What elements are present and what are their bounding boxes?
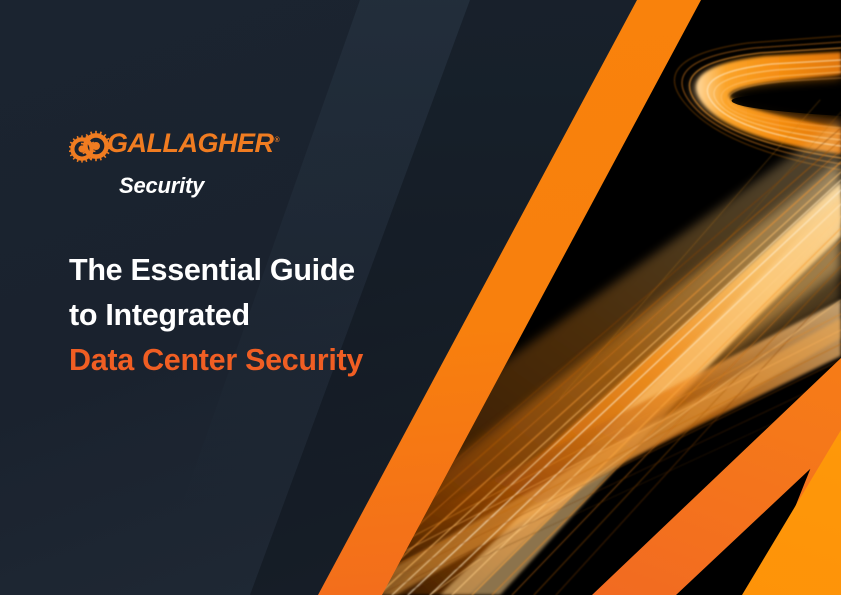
cover-content: GALLAGHER® Security The Essential Guide … <box>69 0 489 595</box>
title-line-1: The Essential Guide <box>69 248 469 293</box>
brand-wordmark: GALLAGHER® <box>107 130 279 157</box>
brand-subname: Security <box>119 175 329 197</box>
title-line-2: to Integrated <box>69 293 469 338</box>
page-title: The Essential Guide to Integrated Data C… <box>69 248 469 383</box>
title-line-3: Data Center Security <box>69 338 469 383</box>
registered-mark-icon: ® <box>275 137 280 144</box>
gallagher-sunburst-logo-icon <box>69 128 111 168</box>
brand-logo: GALLAGHER® Security <box>69 126 329 197</box>
cover-page: GALLAGHER® Security The Essential Guide … <box>0 0 841 595</box>
brand-name: GALLAGHER <box>107 128 274 158</box>
